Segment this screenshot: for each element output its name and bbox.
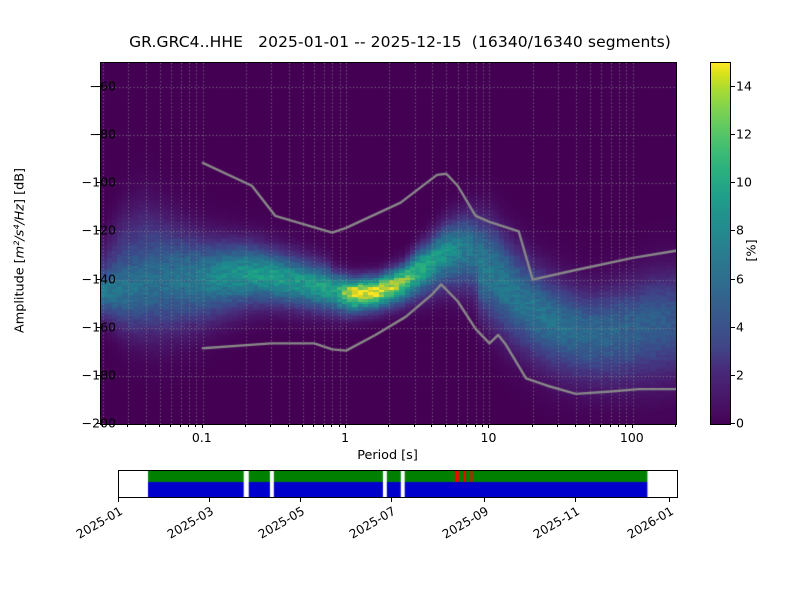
x-tick-mark bbox=[488, 424, 489, 428]
page-title: GR.GRC4..HHE 2025-01-01 -- 2025-12-15 (1… bbox=[0, 33, 800, 51]
x-tick-label: 0.1 bbox=[172, 430, 232, 445]
colorbar-tick-mark bbox=[730, 230, 735, 231]
colorbar-tick-label: 10 bbox=[736, 175, 752, 190]
colorbar-tick-mark bbox=[730, 182, 735, 183]
x-axis-label: Period [s] bbox=[100, 448, 675, 463]
timeline-tick-label: 2025-11 bbox=[522, 504, 583, 547]
colorbar-tick-label: 12 bbox=[736, 127, 752, 142]
y-axis-label-prefix: Amplitude [ bbox=[13, 258, 28, 333]
x-tick-mark bbox=[345, 424, 346, 428]
x-minor-tick-mark bbox=[195, 424, 196, 427]
colorbar-tick-mark bbox=[730, 134, 735, 135]
x-tick-mark bbox=[632, 424, 633, 428]
y-tick-mark bbox=[96, 86, 100, 87]
y-tick-mark bbox=[96, 182, 100, 183]
colorbar-tick-mark bbox=[730, 423, 735, 424]
x-tick-label: 10 bbox=[458, 430, 518, 445]
x-minor-tick-mark bbox=[339, 424, 340, 427]
colorbar-tick-label: 0 bbox=[736, 416, 744, 431]
colorbar-tick-mark bbox=[730, 279, 735, 280]
y-tick-mark bbox=[96, 423, 100, 424]
y-axis-label-suffix: ] [dB] bbox=[13, 168, 28, 204]
x-minor-tick-mark bbox=[313, 424, 314, 427]
x-minor-tick-mark bbox=[557, 424, 558, 427]
colorbar-tick-label: 8 bbox=[736, 223, 744, 238]
y-tick-label: −200 bbox=[56, 416, 116, 431]
timeline-tick-mark bbox=[484, 497, 485, 502]
timeline-tick-mark bbox=[391, 497, 392, 502]
timeline-tick-label: 2025-09 bbox=[431, 504, 492, 547]
y-tick-mark bbox=[96, 327, 100, 328]
x-minor-tick-mark bbox=[431, 424, 432, 427]
y-tick-label: −160 bbox=[56, 319, 116, 334]
x-minor-tick-mark bbox=[610, 424, 611, 427]
y-tick-label: −80 bbox=[56, 127, 116, 142]
timeline-tick-label: 2025-07 bbox=[337, 504, 398, 547]
x-minor-tick-mark bbox=[170, 424, 171, 427]
x-minor-tick-mark bbox=[145, 424, 146, 427]
x-minor-tick-mark bbox=[589, 424, 590, 427]
x-minor-tick-mark bbox=[270, 424, 271, 427]
timeline-tick-mark bbox=[209, 497, 210, 502]
timeline-tick-mark bbox=[118, 497, 119, 502]
x-minor-tick-mark bbox=[600, 424, 601, 427]
data-coverage-timeline[interactable] bbox=[118, 470, 678, 498]
x-minor-tick-mark bbox=[445, 424, 446, 427]
colorbar-tick-label: 14 bbox=[736, 79, 752, 94]
x-minor-tick-mark bbox=[245, 424, 246, 427]
x-minor-tick-mark bbox=[575, 424, 576, 427]
x-minor-tick-mark bbox=[159, 424, 160, 427]
x-tick-label: 100 bbox=[602, 430, 662, 445]
noise-model-curves bbox=[101, 63, 676, 424]
y-tick-label: −140 bbox=[56, 271, 116, 286]
y-axis-label-math: m²/s⁴/Hz bbox=[13, 204, 28, 258]
y-tick-label: −100 bbox=[56, 175, 116, 190]
y-tick-label: −180 bbox=[56, 367, 116, 382]
x-minor-tick-mark bbox=[323, 424, 324, 427]
colorbar-label: [%] bbox=[745, 191, 760, 311]
colorbar-tick-label: 6 bbox=[736, 271, 744, 286]
colorbar[interactable] bbox=[710, 62, 731, 425]
x-minor-tick-mark bbox=[188, 424, 189, 427]
x-minor-tick-mark bbox=[388, 424, 389, 427]
colorbar-tick-mark bbox=[730, 86, 735, 87]
x-minor-tick-mark bbox=[625, 424, 626, 427]
x-minor-tick-mark bbox=[482, 424, 483, 427]
x-minor-tick-mark bbox=[532, 424, 533, 427]
x-minor-tick-mark bbox=[414, 424, 415, 427]
x-minor-tick-mark bbox=[618, 424, 619, 427]
timeline-tick-mark bbox=[575, 497, 576, 502]
x-minor-tick-mark bbox=[302, 424, 303, 427]
y-tick-mark bbox=[96, 134, 100, 135]
colorbar-tick-mark bbox=[730, 327, 735, 328]
timeline-tick-label: 2025-05 bbox=[246, 504, 307, 547]
y-axis-label: Amplitude [m²/s⁴/Hz] [dB] bbox=[13, 86, 28, 416]
x-minor-tick-mark bbox=[675, 424, 676, 427]
x-minor-tick-mark bbox=[102, 424, 103, 427]
x-minor-tick-mark bbox=[466, 424, 467, 427]
x-tick-mark bbox=[202, 424, 203, 428]
y-tick-label: −60 bbox=[56, 79, 116, 94]
timeline-tick-mark bbox=[300, 497, 301, 502]
timeline-tick-mark bbox=[669, 497, 670, 502]
x-minor-tick-mark bbox=[331, 424, 332, 427]
x-minor-tick-mark bbox=[288, 424, 289, 427]
y-tick-mark bbox=[96, 230, 100, 231]
x-tick-label: 1 bbox=[315, 430, 375, 445]
timeline-tick-label: 2025-03 bbox=[155, 504, 216, 547]
x-minor-tick-mark bbox=[127, 424, 128, 427]
y-tick-mark bbox=[96, 375, 100, 376]
y-tick-label: −120 bbox=[56, 223, 116, 238]
colorbar-tick-label: 4 bbox=[736, 319, 744, 334]
ppsd-figure: GR.GRC4..HHE 2025-01-01 -- 2025-12-15 (1… bbox=[0, 0, 800, 600]
x-minor-tick-mark bbox=[180, 424, 181, 427]
timeline-tick-label: 2025-01 bbox=[64, 504, 125, 547]
y-tick-mark bbox=[96, 279, 100, 280]
ppsd-axes[interactable] bbox=[100, 62, 677, 425]
timeline-tick-label: 2026-01 bbox=[615, 504, 676, 547]
coverage-bars bbox=[119, 471, 677, 497]
colorbar-tick-label: 2 bbox=[736, 367, 744, 382]
x-minor-tick-mark bbox=[475, 424, 476, 427]
colorbar-tick-mark bbox=[730, 375, 735, 376]
x-minor-tick-mark bbox=[457, 424, 458, 427]
